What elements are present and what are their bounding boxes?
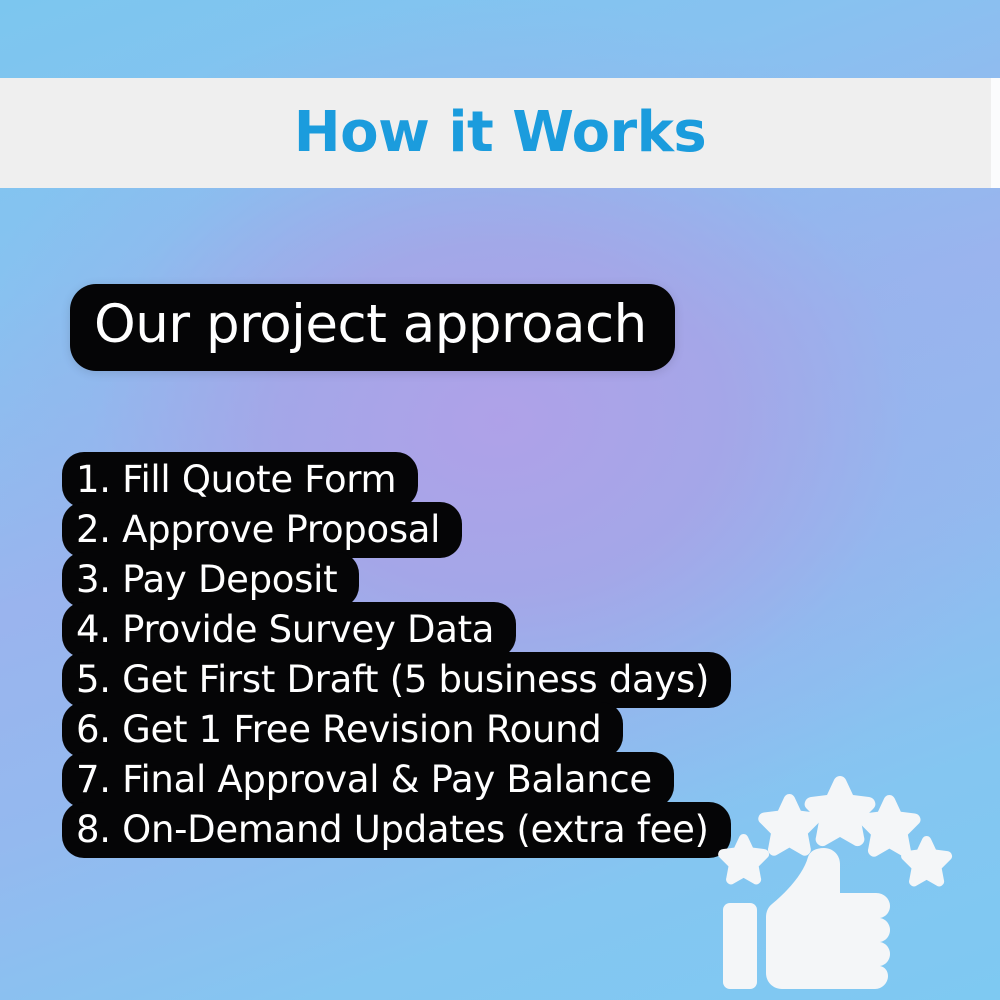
steps-list: 1. Fill Quote Form 2. Approve Proposal 3… [62, 455, 762, 855]
list-item: 3. Pay Deposit [62, 555, 762, 605]
list-item: 5. Get First Draft (5 business days) [62, 655, 762, 705]
list-item: 8. On-Demand Updates (extra fee) [62, 805, 762, 855]
list-item: 1. Fill Quote Form [62, 455, 762, 505]
approach-heading-label: Our project approach [94, 298, 647, 351]
star-icon [718, 834, 769, 884]
step-label: 1. Fill Quote Form [62, 452, 418, 508]
step-label: 7. Final Approval & Pay Balance [62, 752, 674, 808]
step-label: 6. Get 1 Free Revision Round [62, 702, 623, 758]
list-item: 7. Final Approval & Pay Balance [62, 755, 762, 805]
step-label: 3. Pay Deposit [62, 552, 359, 608]
list-item: 4. Provide Survey Data [62, 605, 762, 655]
slide-canvas: How it Works Our project approach 1. Fil… [0, 0, 1000, 1000]
rating-graphic [700, 766, 968, 994]
step-label: 8. On-Demand Updates (extra fee) [62, 802, 731, 858]
step-label: 5. Get First Draft (5 business days) [62, 652, 731, 708]
approach-heading-pill: Our project approach [70, 284, 675, 371]
header-band: How it Works [0, 78, 1000, 188]
step-label: 4. Provide Survey Data [62, 602, 516, 658]
page-title: How it Works [294, 105, 706, 161]
step-label: 2. Approve Proposal [62, 502, 462, 558]
list-item: 6. Get 1 Free Revision Round [62, 705, 762, 755]
list-item: 2. Approve Proposal [62, 505, 762, 555]
star-icon [805, 776, 876, 846]
